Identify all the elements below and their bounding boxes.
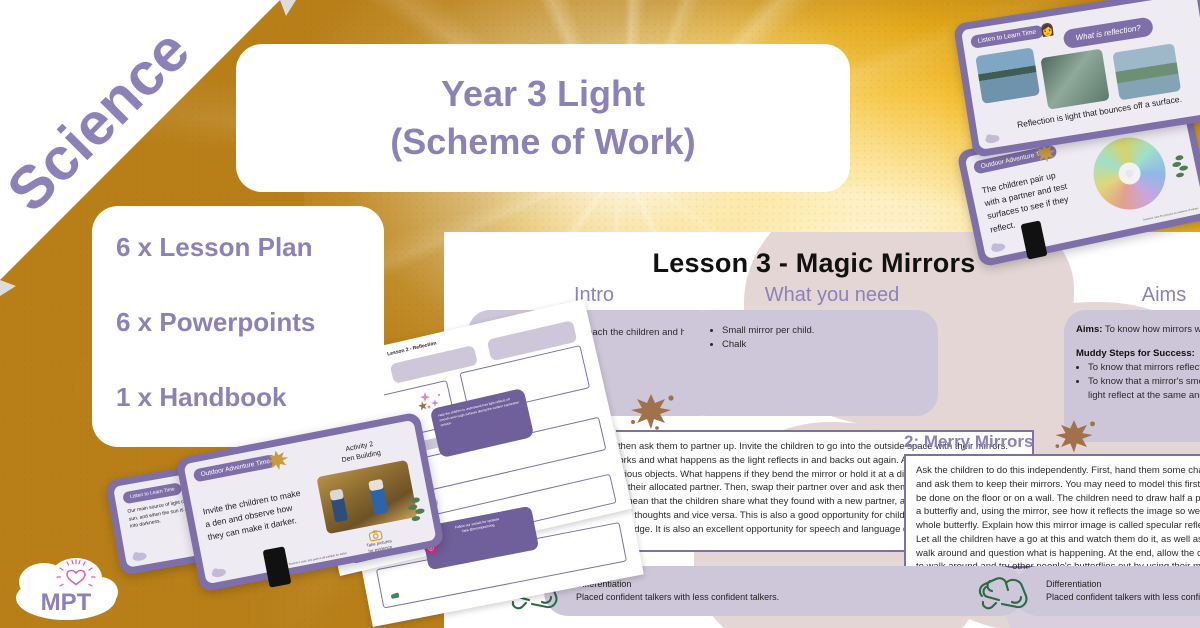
title-line-2: (Scheme of Work) [390,121,695,162]
slide-tag: Listen to Learn Time [970,25,1044,49]
paint-splat-icon [260,444,294,475]
success-label: Muddy Steps for Success: [1076,348,1195,359]
section-heading-aims: Aims [1064,284,1200,307]
aims-content: Aims: To know how mirrors work. Muddy St… [1064,310,1200,403]
aims-label: Aims: [1076,324,1102,335]
leaf-decor-icon [1169,151,1195,185]
photo-lake-reflection [1112,43,1181,100]
mpt-logo-icon: MPT [14,548,118,622]
feature-item-powerpoints: 6 x Powerpoints [116,307,384,338]
mpt-watermark-icon [989,240,1007,254]
slide-footnote: Teachers, take the pictures as evidence … [1120,207,1199,227]
features-card: 6 x Lesson Plan 6 x Powerpoints 1 x Hand… [92,206,384,447]
poster-canvas: Science Year 3 Light (Scheme of Work) 6 … [0,0,1200,628]
list-item: To know that a mirror's smooth surface m… [1088,375,1200,404]
slide-question: What is reflection? [1062,16,1154,49]
section-heading-what-you-need: What you need [722,284,942,307]
aims-panel: Aims: To know how mirrors work. Muddy St… [1064,310,1200,442]
list-item: Small mirror per child. [722,324,928,338]
photo-girl-mirror [1040,49,1109,110]
hands-shake-icon [972,568,1036,614]
aims-text: To know how mirrors work. [1102,324,1200,335]
slide-footnote: Teacher's note: this pack is all suitabl… [288,551,347,566]
photo-children-den [316,460,417,534]
section-heading-intro: Intro [504,284,684,307]
sparkle-icon [418,390,444,414]
leaf-decor-icon [404,493,432,529]
page-title: Year 3 Light (Scheme of Work) [390,70,695,165]
differentiation-panel-2: Differentiation Placed confident talkers… [1014,566,1200,616]
differentiation-text-2: Differentiation Placed confident talkers… [1036,578,1200,605]
list-item: To know that mirrors reflect light when … [1088,361,1200,375]
aims-line: Aims: To know how mirrors work. [1076,323,1200,337]
mpt-watermark-icon [131,549,149,563]
activity-body-2: Ask the children to do this independentl… [904,454,1200,568]
differentiation-body: Placed confident talkers with less confi… [1046,591,1200,605]
subject-label: Science [0,16,203,225]
what-you-need-panel: Small mirror per child. Chalk [684,310,938,416]
title-line-1: Year 3 Light [441,73,645,114]
differentiation-label: Differentiation [1046,578,1200,592]
feature-item-lesson-plan: 6 x Lesson Plan [116,232,384,263]
photo-lake-mountains [975,47,1040,103]
mpt-logo-text: MPT [41,589,92,616]
list-item: Chalk [722,338,928,352]
mpt-logo: MPT [14,548,118,622]
mpt-watermark-icon [210,565,228,579]
what-you-need-list: Small mirror per child. Chalk [698,310,938,353]
slide-body: Invite the children to make a den and ob… [202,486,312,545]
cd-disc-image [1087,131,1172,216]
person-emoji-icon: 👩 [1039,22,1056,38]
success-list: To know that mirrors reflect light when … [1088,361,1200,404]
mpt-watermark-icon [984,132,1002,145]
activity-heading-2: 2: Merry Mirrors [904,432,1033,452]
differentiation-body: Placed confident talkers with less confi… [576,591,779,605]
title-card: Year 3 Light (Scheme of Work) [236,44,850,192]
feature-item-handbook: 1 x Handbook [116,382,384,413]
